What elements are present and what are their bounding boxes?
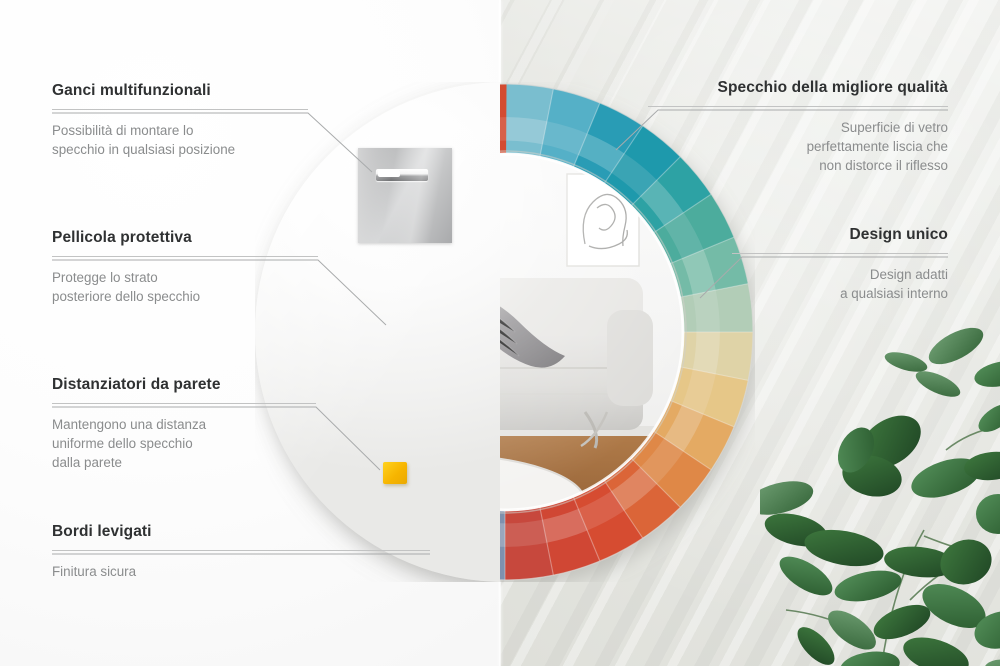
callout-title: Ganci multifunzionali	[52, 82, 308, 100]
plant-leaves-decoration	[760, 300, 1000, 666]
callout-body: Possibilità di montare lo specchio in qu…	[52, 121, 308, 159]
callout-ganci-multifunzionali: Ganci multifunzionali Possibilità di mon…	[52, 82, 308, 159]
callout-body: Protegge lo strato posteriore dello spec…	[52, 268, 318, 306]
hanging-hook-part[interactable]	[358, 148, 452, 243]
wall-spacer-part[interactable]	[383, 462, 407, 484]
infographic-canvas: Ganci multifunzionali Possibilità di mon…	[0, 0, 1000, 666]
callout-body: Design adatti a qualsiasi interno	[732, 265, 948, 303]
callout-specchio-migliore-qualita: Specchio della migliore qualità Superfic…	[648, 79, 948, 175]
callout-body: Finitura sicura	[52, 562, 430, 581]
callout-rule	[52, 109, 308, 110]
callout-rule	[52, 256, 318, 257]
callout-body: Superficie di vetro perfettamente liscia…	[648, 118, 948, 175]
callout-title: Bordi levigati	[52, 523, 430, 541]
callout-rule	[52, 550, 430, 551]
callout-rule	[648, 106, 948, 107]
callout-body: Mantengono una distanza uniforme dello s…	[52, 415, 316, 472]
callout-title: Design unico	[732, 226, 948, 244]
callout-title: Distanziatori da parete	[52, 376, 316, 394]
callout-rule	[732, 253, 948, 254]
callout-pellicola-protettiva: Pellicola protettiva Protegge lo strato …	[52, 229, 318, 306]
hook-gloss	[358, 148, 452, 243]
callout-design-unico: Design unico Design adatti a qualsiasi i…	[732, 226, 948, 303]
callout-bordi-levigati: Bordi levigati Finitura sicura	[52, 523, 430, 581]
callout-distanziatori-da-parete: Distanziatori da parete Mantengono una d…	[52, 376, 316, 472]
callout-title: Specchio della migliore qualità	[648, 79, 948, 97]
callout-rule	[52, 403, 316, 404]
callout-title: Pellicola protettiva	[52, 229, 318, 247]
